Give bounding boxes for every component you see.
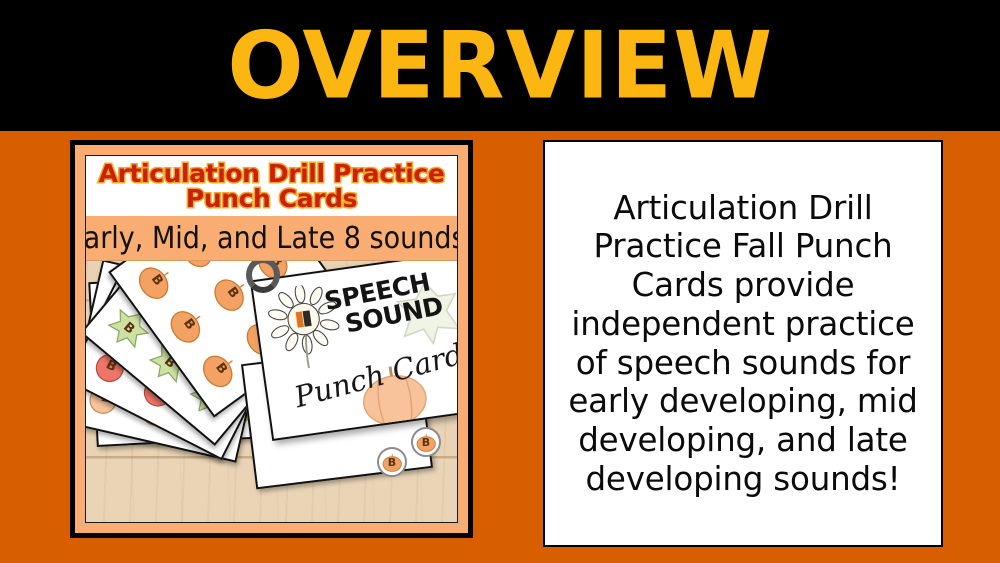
page-title: OVERVIEW bbox=[227, 19, 773, 112]
product-cover-panel: Articulation Drill Practice Punch Cards … bbox=[70, 140, 473, 538]
chip-letter: B bbox=[388, 456, 396, 469]
product-cover-image: Articulation Drill Practice Punch Cards … bbox=[85, 155, 458, 523]
header-band: OVERVIEW bbox=[0, 0, 1000, 131]
cover-title-line-1: Articulation Drill Practice bbox=[99, 161, 445, 187]
chip-letter: B bbox=[422, 436, 430, 449]
punched-chip-pumpkin: B bbox=[411, 427, 441, 457]
cover-title-block: Articulation Drill Practice Punch Cards bbox=[86, 156, 457, 216]
cover-subtitle: Early, Mid, and Late 8 sounds! bbox=[85, 221, 458, 256]
punched-chip-pumpkin: B bbox=[377, 447, 407, 477]
description-text: Articulation Drill Practice Fall Punch C… bbox=[555, 189, 931, 498]
product-photo-wood-background: B B B bbox=[86, 261, 457, 523]
description-panel: Articulation Drill Practice Fall Punch C… bbox=[543, 140, 943, 547]
cover-title-line-2: Punch Cards bbox=[186, 186, 357, 212]
cover-subtitle-band: Early, Mid, and Late 8 sounds! bbox=[86, 216, 457, 261]
front-title-card: SPEECH SOUND Punch Cards bbox=[250, 261, 457, 441]
